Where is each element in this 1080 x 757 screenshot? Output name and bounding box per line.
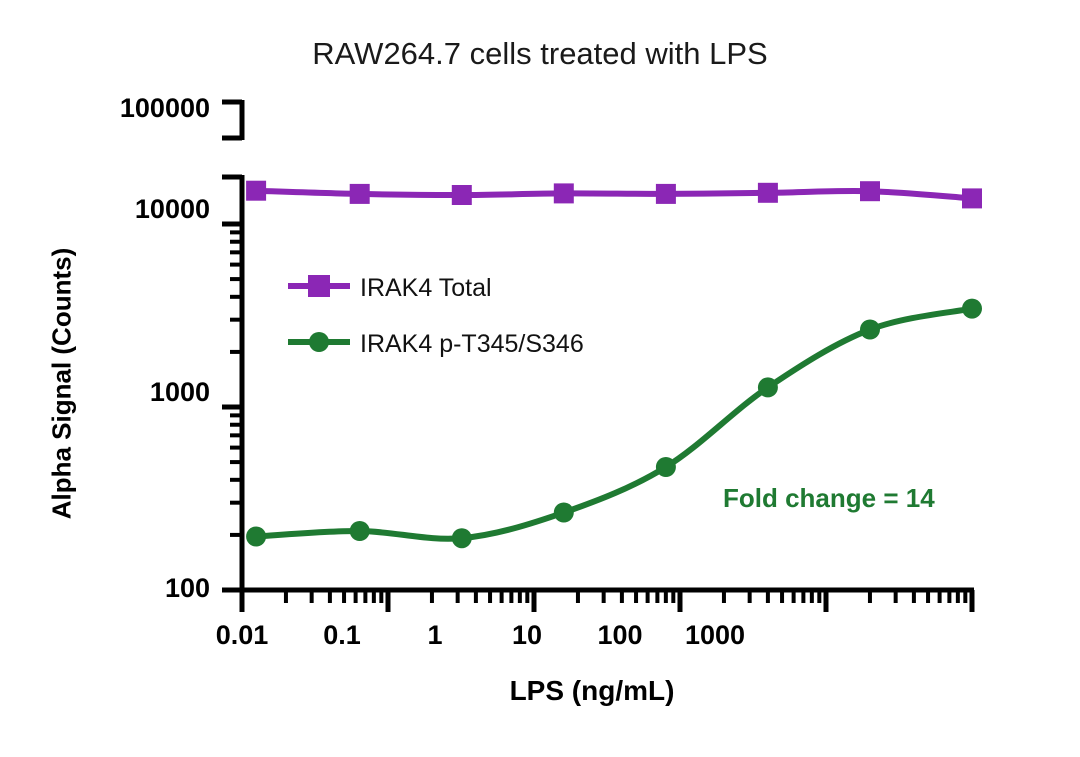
series-irak4-phospho: [246, 299, 982, 549]
legend-marker-irak4-total: [308, 275, 330, 297]
data-point-marker: [758, 183, 778, 203]
data-point-marker: [962, 299, 982, 319]
legend-marker-irak4-phospho: [309, 332, 329, 352]
data-point-marker: [350, 184, 370, 204]
data-point-marker: [452, 528, 472, 548]
chart-figure: RAW264.7 cells treated with LPS Alpha Si…: [0, 0, 1080, 757]
series-irak4-total: [246, 181, 982, 209]
data-point-marker: [656, 184, 676, 204]
series-line-1: [256, 309, 972, 539]
data-point-marker: [860, 181, 880, 201]
data-point-marker: [246, 181, 266, 201]
data-point-marker: [554, 183, 574, 203]
data-point-marker: [452, 185, 472, 205]
data-point-marker: [758, 377, 778, 397]
data-point-marker: [554, 503, 574, 523]
data-point-marker: [350, 521, 370, 541]
data-point-marker: [962, 188, 982, 208]
data-point-marker: [246, 527, 266, 547]
data-point-marker: [860, 320, 880, 340]
axes: [222, 100, 974, 612]
plot-canvas: [0, 0, 1080, 757]
legend-markers: [288, 275, 350, 352]
data-series: [246, 181, 982, 549]
data-point-marker: [656, 457, 676, 477]
